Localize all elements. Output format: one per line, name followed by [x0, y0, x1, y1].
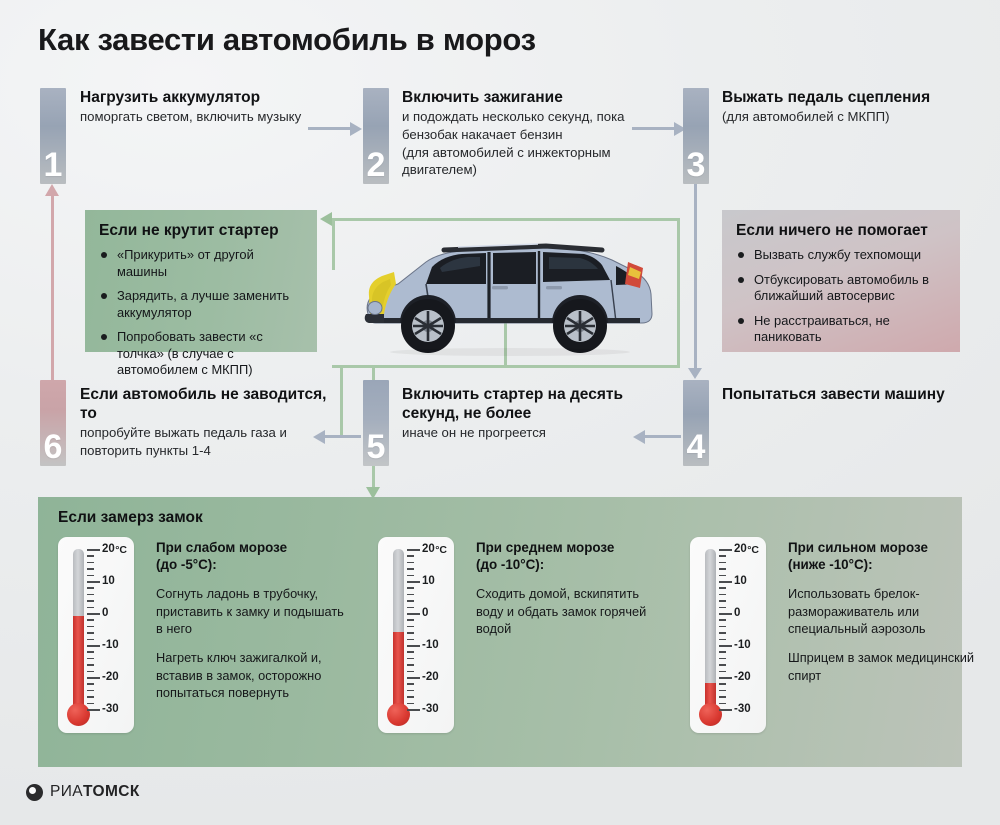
step-number-4: 4 — [683, 380, 709, 466]
step-text-4: Попытаться завести машину — [722, 385, 972, 404]
lock-case-paragraph: Согнуть ладонь в трубочку, приставить к … — [156, 585, 346, 637]
thermometer-unit: °C — [747, 544, 759, 556]
arrowhead-step5-to-step6 — [313, 430, 325, 444]
step-text-6: Если автомобиль не заводится, то попробу… — [80, 385, 330, 460]
thermometer-label: 10 — [422, 575, 435, 587]
step-body-5: иначе он не прогреется — [402, 424, 670, 442]
callout-nothing-helps-list: Вызвать службу техпомощи Отбуксировать а… — [736, 247, 946, 346]
page-title: Как завести автомобиль в мороз — [38, 22, 536, 58]
thermometer-ticks — [719, 549, 733, 709]
arrowhead-step6-to-step1 — [45, 184, 59, 196]
thermometer-ticks — [87, 549, 101, 709]
step-heading-4: Попытаться завести машину — [722, 385, 972, 404]
callout-nothing-helps: Если ничего не помогает Вызвать службу т… — [722, 210, 960, 352]
callout-starter-item: «Прикурить» от другой машины — [99, 247, 303, 280]
thermometer-mercury — [73, 616, 84, 709]
frozen-lock-title: Если замерз замок — [58, 509, 203, 527]
lock-case-1-copy: При слабом морозе (до -5°C): Согнуть лад… — [156, 539, 346, 714]
thermometer-label: -20 — [734, 671, 751, 683]
arrow-step6-to-step1 — [51, 196, 54, 380]
step-heading-2: Включить зажигание — [402, 88, 662, 107]
step-heading-6: Если автомобиль не заводится, то — [80, 385, 330, 423]
arrow-step4-to-step5 — [645, 435, 681, 438]
connector-line-top — [332, 218, 680, 221]
step-body-2: и подождать несколько секунд, пока бензо… — [402, 108, 662, 179]
thermometer-label: -10 — [734, 639, 751, 651]
thermometer-label: 20 — [102, 543, 115, 555]
lock-case-heading: При сильном морозе (ниже -10°C): — [788, 539, 978, 573]
thermometer-label: 20 — [422, 543, 435, 555]
thermometer-label: 20 — [734, 543, 747, 555]
callout-nothing-helps-item: Вызвать службу техпомощи — [736, 247, 946, 264]
step-body-3: (для автомобилей с МКПП) — [722, 108, 972, 126]
thermometer-1: °C — [58, 537, 134, 733]
ria-circle-icon — [26, 784, 43, 801]
lock-case-heading: При среднем морозе (до -10°C): — [476, 539, 666, 573]
thermometer-label: -30 — [422, 703, 439, 715]
thermometer-tube — [73, 549, 84, 709]
lock-case-heading: При слабом морозе (до -5°C): — [156, 539, 346, 573]
step-text-5: Включить стартер на десять секунд, не бо… — [402, 385, 670, 442]
thermometer-label: 0 — [422, 607, 428, 619]
step-number-2: 2 — [363, 88, 389, 184]
callout-starter-list: «Прикурить» от другой машины Зарядить, а… — [99, 247, 303, 379]
callout-starter-item: Попробовать завести «с толчка» (в случае… — [99, 329, 303, 379]
thermometer-label: -30 — [102, 703, 119, 715]
step-body-1: поморгать светом, включить музыку — [80, 108, 330, 126]
step-number-5: 5 — [363, 380, 389, 466]
thermometer-mercury — [393, 632, 404, 709]
thermometer-2: °C — [378, 537, 454, 733]
lock-case-paragraph: Шприцем в замок медицинский спирт — [788, 649, 978, 684]
callout-nothing-helps-title: Если ничего не помогает — [736, 222, 946, 240]
thermometer-label: -10 — [102, 639, 119, 651]
callout-nothing-helps-item: Не расстраиваться, не паниковать — [736, 313, 946, 346]
brand-suffix: ТОМСК — [83, 783, 140, 800]
connector-line-left-upper — [332, 218, 335, 270]
step-number-6: 6 — [40, 380, 66, 466]
lock-case-paragraph: Использовать брелок-размораживатель или … — [788, 585, 978, 637]
arrow-step5-to-step6 — [325, 435, 361, 438]
step-text-1: Нагрузить аккумулятор поморгать светом, … — [80, 88, 330, 126]
connector-line-to-step6 — [340, 365, 343, 437]
thermometer-label: -20 — [422, 671, 439, 683]
lock-case-paragraph: Нагреть ключ зажигалкой и, вставив в зам… — [156, 649, 346, 701]
thermometer-label: -10 — [422, 639, 439, 651]
callout-nothing-helps-item: Отбуксировать автомобиль в ближайший авт… — [736, 272, 946, 305]
thermometer-label: 10 — [734, 575, 747, 587]
step-number-3: 3 — [683, 88, 709, 184]
step-text-2: Включить зажигание и подождать несколько… — [402, 88, 662, 179]
step-heading-3: Выжать педаль сцепления — [722, 88, 972, 107]
thermometer-ticks — [407, 549, 421, 709]
thermometer-unit: °C — [435, 544, 447, 556]
callout-starter-item: Зарядить, а лучше заменить аккумулятор — [99, 288, 303, 321]
arrow-step1-to-step2 — [308, 127, 352, 130]
thermometer-label: 0 — [734, 607, 740, 619]
infographic-root: Как завести автомобиль в мороз — [0, 0, 1000, 825]
lock-case-3-copy: При сильном морозе (ниже -10°C): Использ… — [788, 539, 978, 696]
thermometer-unit: °C — [115, 544, 127, 556]
brand-prefix: РИА — [50, 783, 83, 800]
car-illustration — [340, 222, 680, 372]
thermometer-label: 0 — [102, 607, 108, 619]
frozen-lock-panel: Если замерз замок °C — [38, 497, 962, 767]
arrow-step2-to-step3 — [632, 127, 676, 130]
thermometer-tube — [393, 549, 404, 709]
brand-name: РИАТОМСК — [50, 783, 140, 801]
callout-starter-title: Если не крутит стартер — [99, 222, 303, 240]
arrowhead-step3-to-step4 — [688, 368, 702, 379]
arrow-step3-to-step4 — [694, 184, 697, 370]
thermometer-tube — [705, 549, 716, 709]
step-heading-5: Включить стартер на десять секунд, не бо… — [402, 385, 670, 423]
thermometer-label: 10 — [102, 575, 115, 587]
step-text-3: Выжать педаль сцепления (для автомобилей… — [722, 88, 972, 126]
arrowhead-step1-to-step2 — [350, 122, 362, 136]
arrowhead-step4-to-step5 — [633, 430, 645, 444]
footer-logo[interactable]: РИАТОМСК — [26, 783, 140, 801]
thermometer-label: -20 — [102, 671, 119, 683]
callout-starter: Если не крутит стартер «Прикурить» от др… — [85, 210, 317, 352]
lock-case-paragraph: Сходить домой, вскипятить воду и обдать … — [476, 585, 666, 637]
connector-arrowhead-left — [320, 212, 332, 226]
step-heading-1: Нагрузить аккумулятор — [80, 88, 330, 107]
step-body-6: попробуйте выжать педаль газа и повторит… — [80, 424, 330, 459]
thermometer-3: °C — [690, 537, 766, 733]
thermometer-label: -30 — [734, 703, 751, 715]
lock-case-2-copy: При среднем морозе (до -10°C): Сходить д… — [476, 539, 666, 649]
step-number-1: 1 — [40, 88, 66, 184]
